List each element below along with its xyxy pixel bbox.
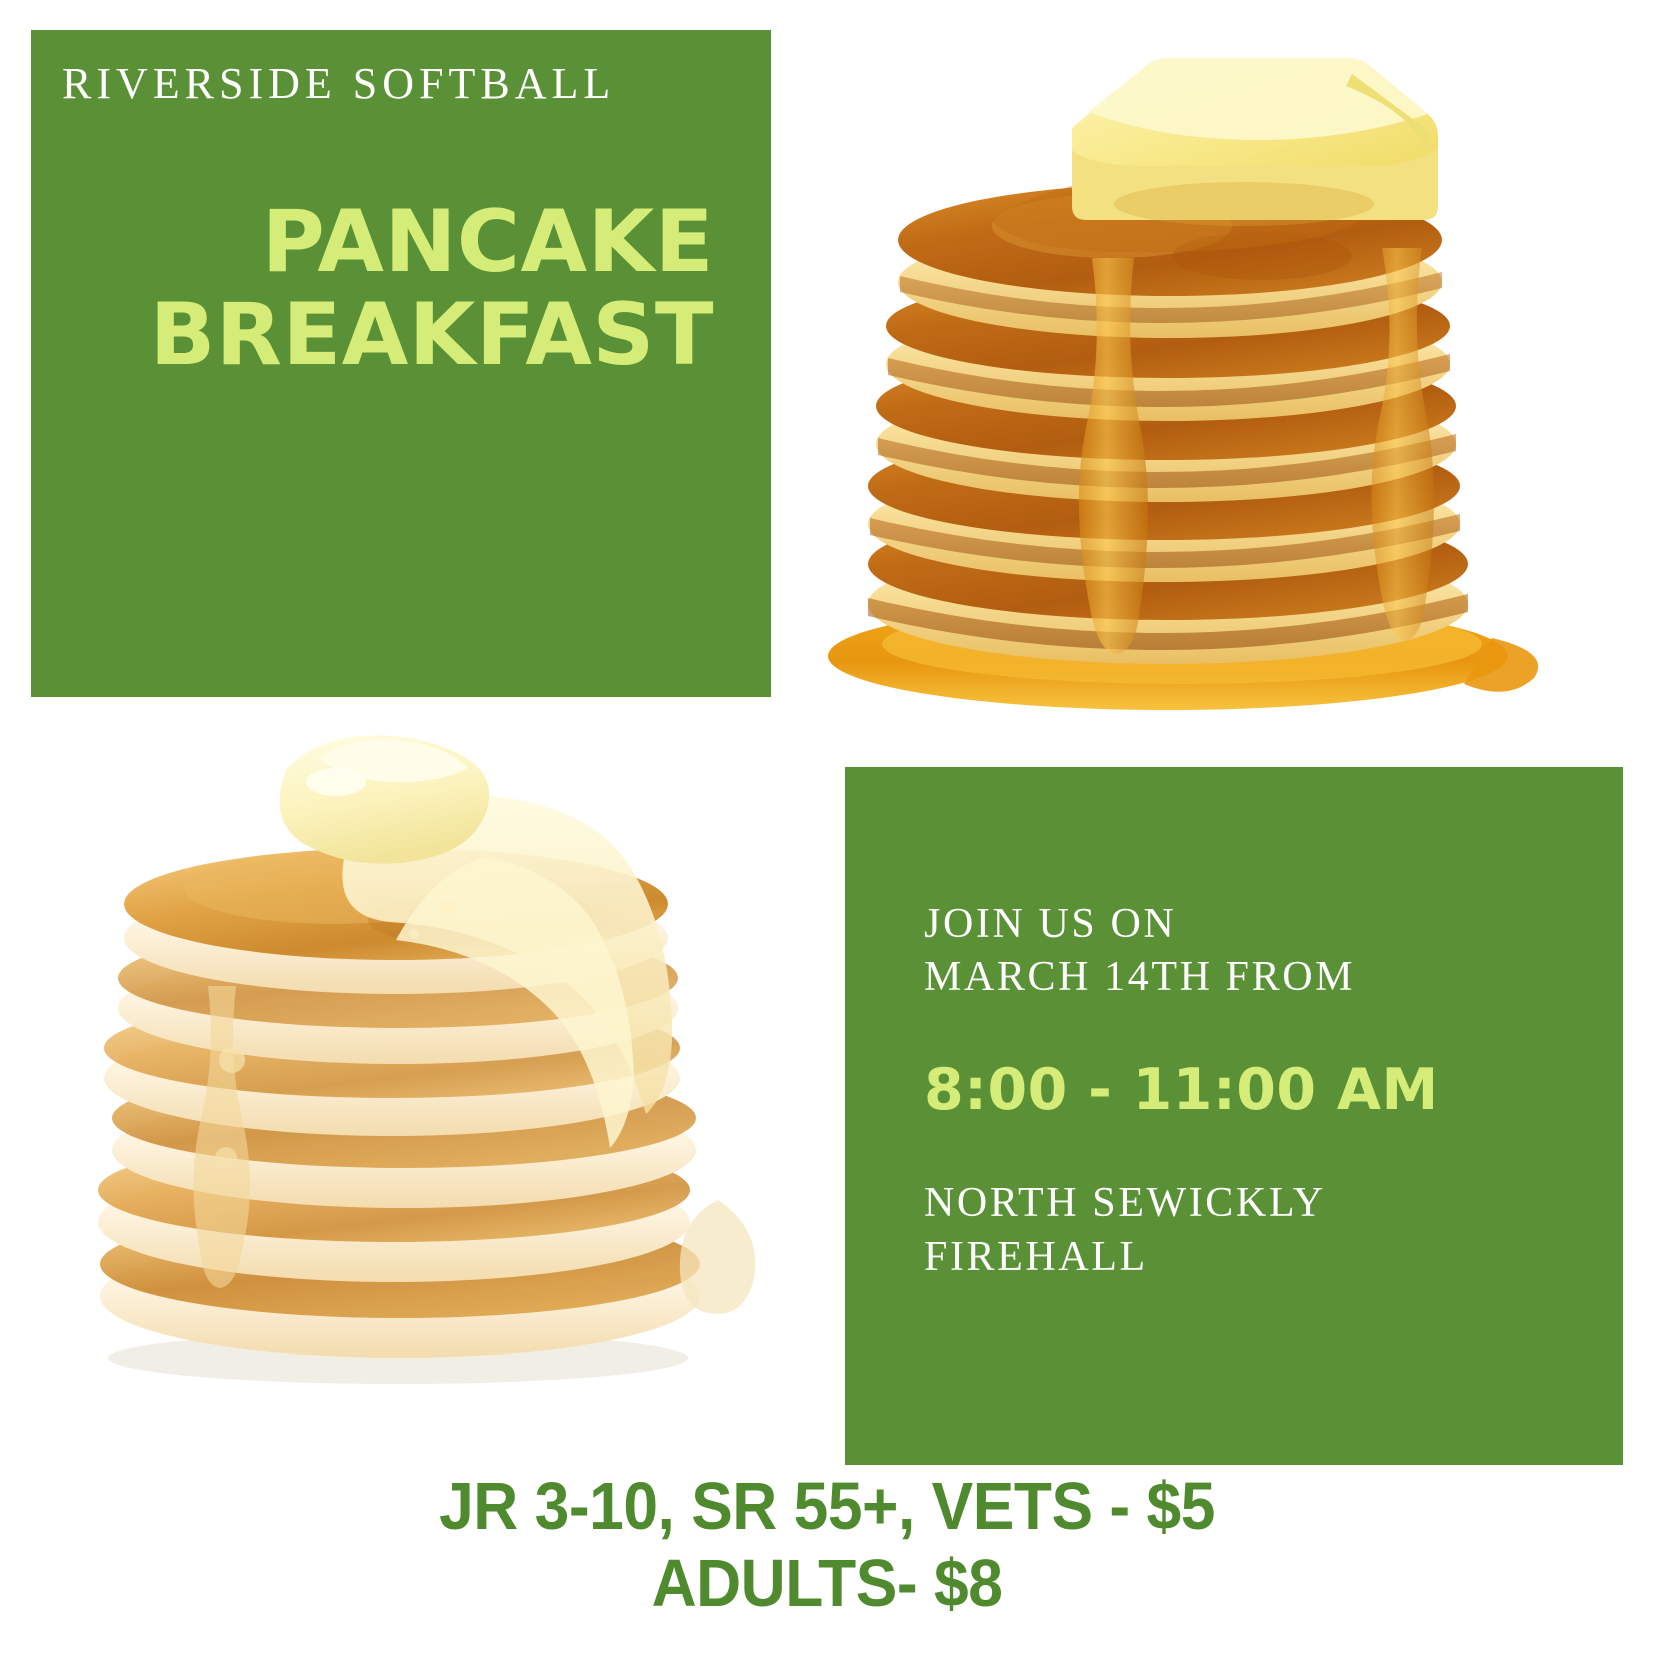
event-venue: NORTH SEWICKLY FIREHALL xyxy=(924,1177,1564,1284)
venue-line-2: FIREHALL xyxy=(924,1231,1564,1284)
organization-name: RIVERSIDE SOFTBALL xyxy=(62,60,722,108)
pancake-stack-image-bottom-left xyxy=(18,730,780,1390)
invite-line-1: JOIN US ON xyxy=(924,898,1564,951)
invite-line-2: MARCH 14TH FROM xyxy=(924,951,1564,1004)
title-line-1: PANCAKE xyxy=(34,196,714,289)
pricing-line-1: JR 3-10, SR 55+, VETS - $5 xyxy=(58,1468,1596,1545)
title-line-2: BREAKFAST xyxy=(34,289,714,382)
pricing-line-2: ADULTS- $8 xyxy=(58,1545,1596,1622)
pancake-stack-image-top-right xyxy=(792,8,1544,720)
event-details: JOIN US ON MARCH 14TH FROM 8:00 - 11:00 … xyxy=(924,898,1564,1284)
pancake-breakfast-flyer: RIVERSIDE SOFTBALL PANCAKE BREAKFAST JOI… xyxy=(0,0,1654,1654)
page-title: PANCAKE BREAKFAST xyxy=(34,196,714,382)
event-time: 8:00 - 11:00 AM xyxy=(924,1059,1564,1122)
invite-text: JOIN US ON MARCH 14TH FROM xyxy=(924,898,1564,1005)
pricing-info: JR 3-10, SR 55+, VETS - $5 ADULTS- $8 xyxy=(58,1468,1596,1622)
venue-line-1: NORTH SEWICKLY xyxy=(924,1177,1564,1230)
